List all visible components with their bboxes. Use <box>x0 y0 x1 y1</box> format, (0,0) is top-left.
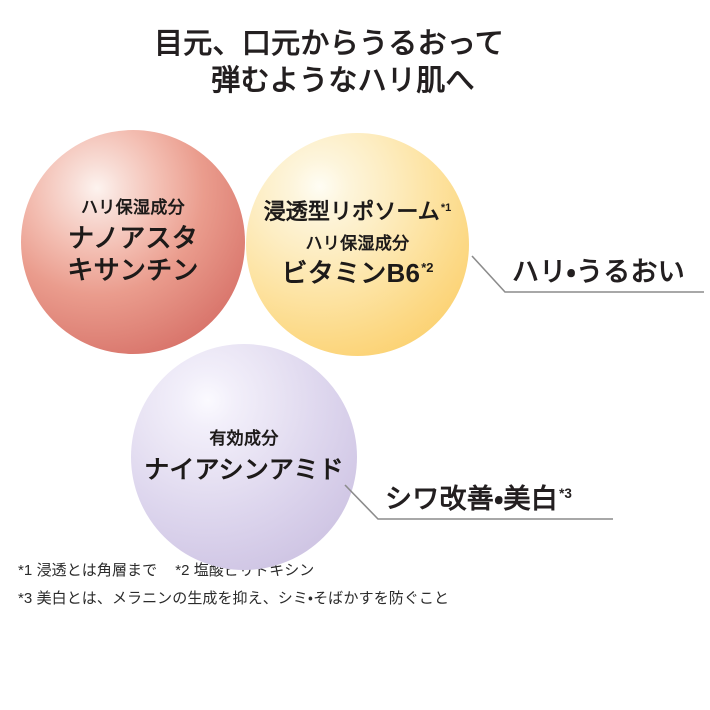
callout-hari-uruoi <box>470 253 706 299</box>
sphere-name-b6-text: ビタミンB6 <box>281 258 420 288</box>
sphere-vitamin-b6: 浸透型リポソーム*1 ハリ保湿成分 ビタミンB6*2 <box>246 133 469 356</box>
footnote-marker-1: *1 <box>441 202 451 214</box>
leader-line-shiwa-icon <box>343 482 615 526</box>
sphere-role-label-astaxanthin: ハリ保湿成分 <box>81 197 185 220</box>
headline-line-1: 目元、口元からうるおって <box>0 26 710 63</box>
footnote-marker-2: *2 <box>421 260 433 275</box>
footnote-row-2: *3 美白とは、メラニンの生成を抑え、シミ・そばかすを防ぐこと <box>18 585 449 613</box>
page-title: 目元、口元からうるおって 弾むようなハリ肌へ <box>0 26 710 100</box>
sphere-role-label-niacinamide: 有効成分 <box>209 428 278 451</box>
sphere-name-astaxanthin-line2: キサンチン <box>67 255 198 287</box>
sphere-niacinamide: 有効成分 ナイアシンアミド <box>131 344 357 570</box>
sphere-name-astaxanthin-line1: ナノアスタ <box>68 223 198 255</box>
sphere-name-b6: ビタミンB6*2 <box>281 258 433 290</box>
sphere-title-liposome: 浸透型リポソーム*1 <box>264 199 452 225</box>
sphere-nano-astaxanthin: ハリ保湿成分 ナノアスタ キサンチン <box>21 130 245 354</box>
footnote-1: *1 浸透とは角層まで <box>18 562 157 579</box>
sphere-name-niacinamide: ナイアシンアミド <box>144 455 344 486</box>
headline-line-2: 弾むようなハリ肌へ <box>0 63 710 100</box>
sphere-title-liposome-text: 浸透型リポソーム <box>264 199 440 224</box>
leader-line-hari-icon <box>470 253 706 299</box>
footnote-3: *3 美白とは、メラニンの生成を抑え、シミ・そばかすを防ぐこと <box>18 590 449 607</box>
sphere-role-label-b6: ハリ保湿成分 <box>305 233 409 256</box>
callout-shiwa-bihaku <box>343 482 615 526</box>
